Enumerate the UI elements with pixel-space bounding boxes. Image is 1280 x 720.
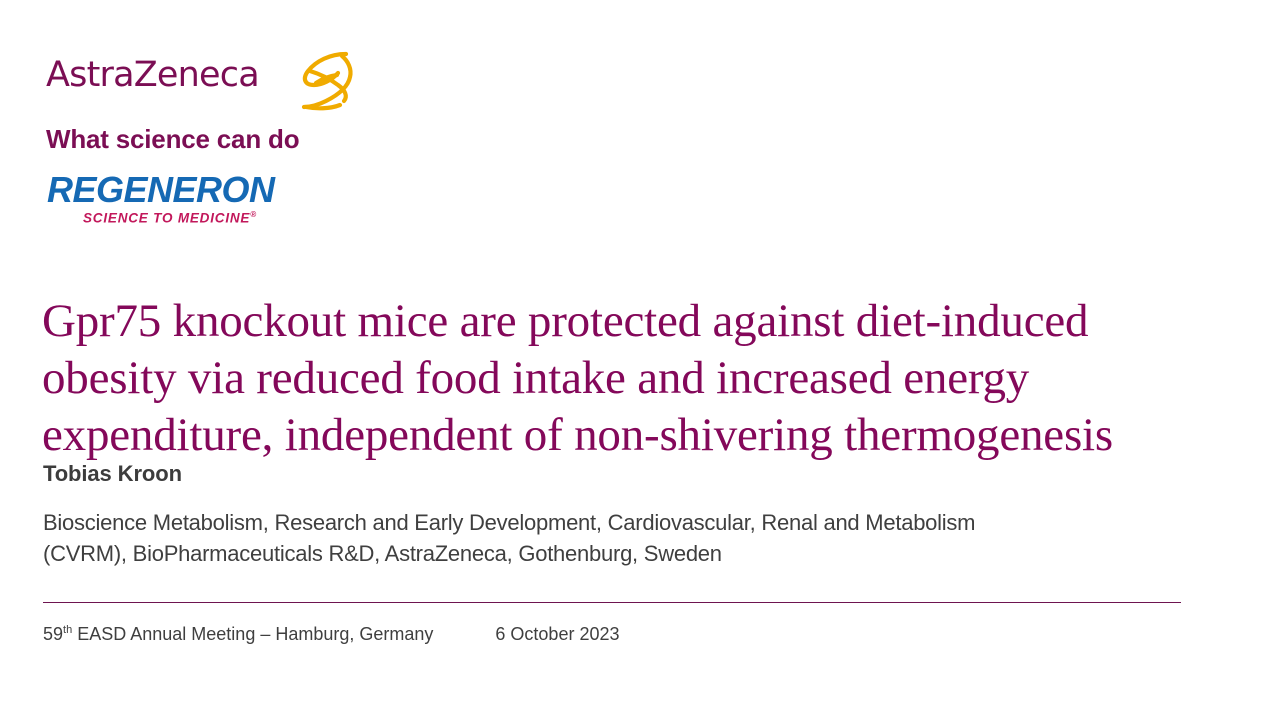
footer-meeting-number: 59 [43, 624, 63, 644]
astrazeneca-logo: AstraZeneca What science can do [44, 50, 364, 118]
astrazeneca-wordmark: AstraZeneca [46, 58, 259, 93]
footer-meeting-info: 59th EASD Annual Meeting – Hamburg, Germ… [43, 618, 433, 646]
footer: 59th EASD Annual Meeting – Hamburg, Germ… [43, 618, 1181, 646]
presenter-affiliation: Bioscience Metabolism, Research and Earl… [43, 507, 1053, 569]
regeneron-wordmark: REGENERON [47, 172, 347, 208]
astrazeneca-tagline: What science can do [46, 126, 299, 152]
astrazeneca-helix-icon [286, 49, 362, 115]
title-slide: AstraZeneca What science can do REGENERO… [0, 0, 1280, 720]
regeneron-logo: REGENERON SCIENCE TO MEDICINE® [47, 172, 347, 225]
regeneron-tagline: SCIENCE TO MEDICINE® [83, 211, 347, 225]
footer-divider [43, 602, 1181, 603]
footer-meeting-ordinal: th [63, 624, 72, 636]
logo-block: AstraZeneca What science can do REGENERO… [44, 50, 364, 118]
regeneron-tagline-text: SCIENCE TO MEDICINE [83, 211, 250, 226]
footer-date: 6 October 2023 [495, 622, 619, 646]
footer-meeting-text: EASD Annual Meeting – Hamburg, Germany [72, 624, 433, 644]
regeneron-trademark-symbol: ® [250, 210, 257, 219]
page-title: Gpr75 knockout mice are protected agains… [42, 293, 1222, 464]
presenter-name: Tobias Kroon [43, 461, 182, 487]
